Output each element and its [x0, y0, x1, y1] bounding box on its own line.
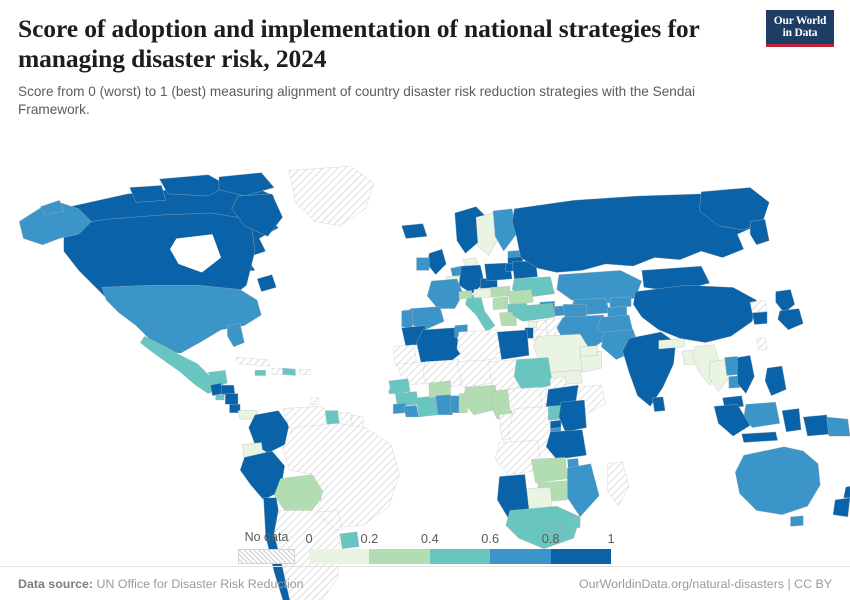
- country-italy[interactable]: [465, 293, 495, 331]
- country-sri-lanka[interactable]: [652, 396, 665, 411]
- country-tanzania[interactable]: [546, 429, 586, 459]
- country-switzerland[interactable]: [459, 290, 472, 299]
- world-map[interactable]: No data 0 0.2 0.4 0.6 0.8 1: [0, 123, 850, 600]
- owid-logo[interactable]: Our World in Data: [766, 10, 834, 47]
- legend-no-data-swatch: [238, 549, 295, 564]
- country-greenland[interactable]: [289, 166, 374, 226]
- country-sudan[interactable]: [514, 357, 552, 391]
- country-lebanon[interactable]: [528, 321, 537, 327]
- country-trinidad[interactable]: [310, 397, 319, 403]
- legend-tick-labels: 0 0.2 0.4 0.6 0.8 1: [309, 531, 611, 549]
- attribution-link[interactable]: OurWorldinData.org/natural-disasters | C…: [579, 577, 832, 591]
- country-new-zealand-south[interactable]: [833, 497, 850, 516]
- country-kenya[interactable]: [559, 400, 587, 432]
- legend-no-data-label: No data: [245, 530, 289, 544]
- country-philippines[interactable]: [765, 366, 786, 396]
- country-spain[interactable]: [408, 306, 444, 329]
- legend-tick-1: 1: [607, 531, 614, 546]
- country-indonesia-sumatra[interactable]: [714, 404, 750, 436]
- map-legend: No data 0 0.2 0.4 0.6 0.8 1: [238, 520, 611, 564]
- country-australia[interactable]: [735, 446, 820, 514]
- legend-bin-4[interactable]: [551, 549, 611, 564]
- country-hungary[interactable]: [491, 286, 510, 297]
- chart-container: Score of adoption and implementation of …: [0, 0, 850, 600]
- legend-bin-2[interactable]: [430, 549, 490, 564]
- country-libya[interactable]: [457, 329, 502, 363]
- data-source: Data source: UN Office for Disaster Risk…: [18, 577, 304, 591]
- legend-no-data[interactable]: No data: [238, 530, 295, 564]
- country-indonesia-java[interactable]: [742, 431, 778, 442]
- country-sierra-leone[interactable]: [393, 403, 406, 414]
- country-niger[interactable]: [457, 359, 493, 387]
- country-canada-arctic-3[interactable]: [130, 185, 166, 202]
- country-haiti[interactable]: [272, 368, 283, 374]
- country-serbia[interactable]: [493, 296, 508, 309]
- country-newfoundland[interactable]: [257, 274, 276, 291]
- country-austria[interactable]: [474, 288, 493, 298]
- data-source-value: UN Office for Disaster Risk Reduction: [97, 577, 304, 591]
- country-egypt[interactable]: [497, 329, 529, 359]
- country-cuba[interactable]: [236, 357, 270, 366]
- country-liberia[interactable]: [404, 405, 419, 417]
- legend-tick-0-6: 0.6: [481, 531, 499, 546]
- country-jamaica[interactable]: [255, 370, 266, 375]
- legend-tick-0-4: 0.4: [421, 531, 439, 546]
- country-togo[interactable]: [451, 395, 460, 412]
- legend-bin-3[interactable]: [490, 549, 550, 564]
- country-puerto-rico[interactable]: [300, 369, 311, 374]
- country-romania[interactable]: [508, 289, 534, 304]
- owid-logo-line-1: Our World: [766, 15, 834, 27]
- chart-footer: Data source: UN Office for Disaster Risk…: [0, 566, 850, 600]
- country-indonesia-sulawesi[interactable]: [782, 408, 801, 431]
- country-mozambique[interactable]: [567, 463, 599, 516]
- legend-bin-1[interactable]: [369, 549, 429, 564]
- legend-tick-0-2: 0.2: [360, 531, 378, 546]
- country-south-korea[interactable]: [752, 311, 767, 324]
- chart-subtitle: Score from 0 (worst) to 1 (best) measuri…: [18, 83, 758, 119]
- country-taiwan[interactable]: [757, 337, 768, 350]
- country-uae[interactable]: [580, 345, 597, 356]
- country-turkey[interactable]: [512, 303, 555, 321]
- legend-scale: 0 0.2 0.4 0.6 0.8 1: [309, 531, 611, 564]
- legend-tick-0: 0: [305, 531, 312, 546]
- country-japan-honshu[interactable]: [778, 308, 804, 329]
- country-ghana[interactable]: [436, 394, 453, 414]
- chart-header: Score of adoption and implementation of …: [0, 0, 850, 119]
- owid-logo-line-2: in Data: [766, 27, 834, 39]
- country-france[interactable]: [427, 278, 463, 308]
- country-russia-kamchatka[interactable]: [750, 219, 769, 245]
- country-ivory-coast[interactable]: [417, 395, 438, 416]
- country-zambia[interactable]: [531, 457, 567, 483]
- country-tasmania[interactable]: [791, 515, 804, 526]
- country-el-salvador[interactable]: [216, 394, 225, 399]
- country-rwanda[interactable]: [550, 420, 561, 429]
- country-us-florida[interactable]: [227, 323, 244, 346]
- country-kyrgyzstan[interactable]: [610, 296, 631, 307]
- country-nicaragua[interactable]: [225, 393, 238, 404]
- country-vietnam[interactable]: [737, 355, 754, 393]
- country-north-korea[interactable]: [750, 300, 767, 313]
- legend-bin-0[interactable]: [309, 549, 369, 564]
- legend-color-bar[interactable]: [309, 549, 611, 564]
- country-finland[interactable]: [493, 208, 516, 251]
- data-source-prefix: Data source:: [18, 577, 93, 591]
- legend-tick-0-8: 0.8: [542, 531, 560, 546]
- country-dominican-republic[interactable]: [283, 368, 296, 375]
- country-ireland[interactable]: [417, 257, 430, 270]
- page-title: Score of adoption and implementation of …: [18, 14, 718, 74]
- country-united-kingdom[interactable]: [427, 249, 446, 275]
- country-guatemala[interactable]: [210, 383, 223, 396]
- country-new-zealand[interactable]: [844, 485, 850, 498]
- country-papua-new-guinea[interactable]: [827, 417, 850, 436]
- country-portugal[interactable]: [402, 309, 413, 327]
- country-honduras[interactable]: [221, 385, 235, 395]
- country-madagascar[interactable]: [608, 461, 629, 506]
- country-iceland[interactable]: [402, 223, 428, 238]
